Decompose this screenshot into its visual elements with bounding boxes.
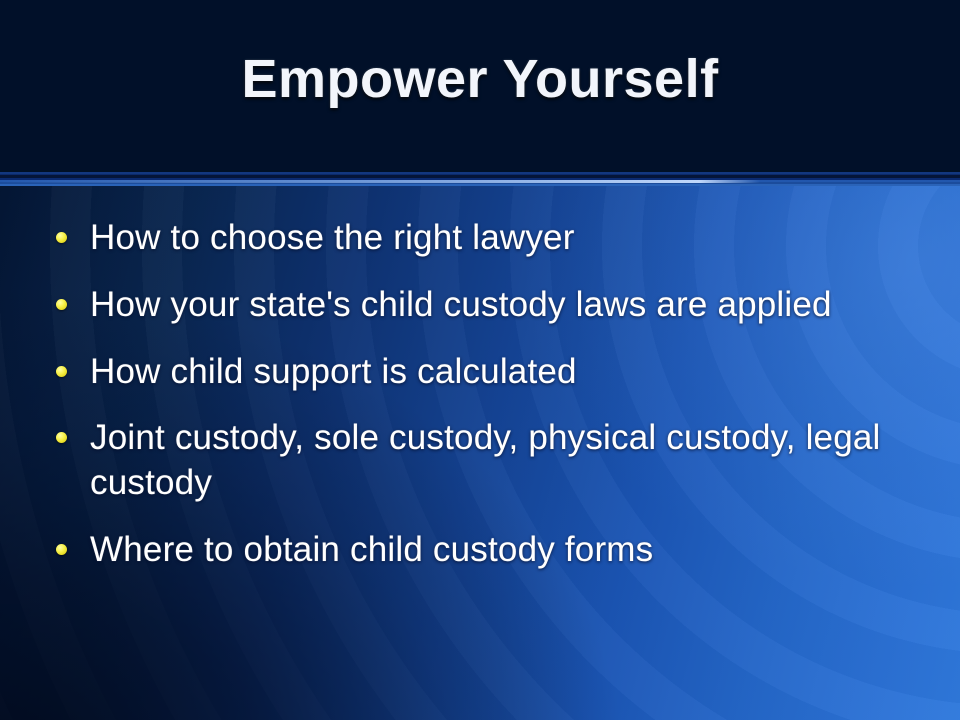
list-item-label: How to choose the right lawyer bbox=[90, 216, 890, 261]
bullet-dot-icon bbox=[56, 544, 67, 555]
list-item: How child support is calculated bbox=[0, 350, 960, 395]
bullet-dot-icon bbox=[56, 299, 67, 310]
header-divider-highlight bbox=[0, 180, 760, 183]
list-item: Where to obtain child custody forms bbox=[0, 528, 960, 573]
slide-header: Empower Yourself bbox=[0, 0, 960, 172]
list-item: How to choose the right lawyer bbox=[0, 216, 960, 261]
list-item-label: Where to obtain child custody forms bbox=[90, 528, 890, 573]
presentation-slide: Empower Yourself How to choose the right… bbox=[0, 0, 960, 720]
bullet-list: How to choose the right lawyer How your … bbox=[0, 186, 960, 720]
list-item-label: How your state's child custody laws are … bbox=[90, 283, 890, 328]
list-item: Joint custody, sole custody, physical cu… bbox=[0, 416, 960, 506]
bullet-dot-icon bbox=[56, 366, 67, 377]
bullet-dot-icon bbox=[56, 432, 67, 443]
list-item-label: Joint custody, sole custody, physical cu… bbox=[90, 416, 890, 506]
list-item-label: How child support is calculated bbox=[90, 350, 890, 395]
bullet-dot-icon bbox=[56, 232, 67, 243]
page-title: Empower Yourself bbox=[0, 52, 960, 106]
list-item: How your state's child custody laws are … bbox=[0, 283, 960, 328]
